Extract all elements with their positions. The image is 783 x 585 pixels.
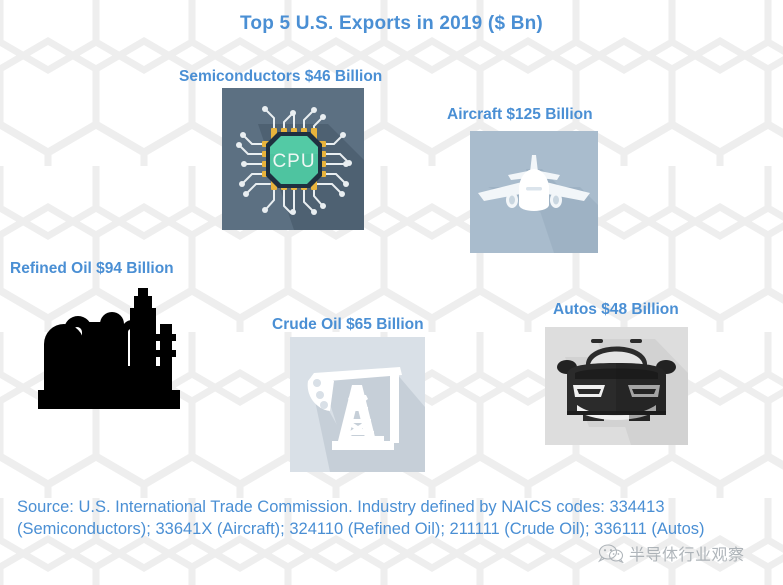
label-aircraft: Aircraft $125 Billion: [447, 106, 593, 124]
source-footnote: Source: U.S. International Trade Commiss…: [17, 496, 762, 540]
wechat-logo-icon: [598, 543, 624, 563]
label-semiconductors: Semiconductors $46 Billion: [179, 68, 382, 86]
cpu-chip-icon: CPU: [222, 88, 364, 230]
airplane-icon: [470, 131, 598, 253]
refinery-icon: [38, 282, 180, 409]
label-autos: Autos $48 Billion: [553, 301, 679, 319]
watermark-text: 半导体行业观察: [629, 541, 745, 565]
watermark: 半导体行业观察: [598, 541, 745, 565]
tile-semiconductors: CPU: [222, 88, 364, 230]
tile-aircraft: [470, 131, 598, 253]
page-title: Top 5 U.S. Exports in 2019 ($ Bn): [0, 13, 783, 35]
tile-crude-oil: [290, 337, 425, 472]
cpu-chip-text: CPU: [272, 151, 315, 172]
label-crude-oil: Crude Oil $65 Billion: [272, 316, 424, 334]
tile-refined-oil: [38, 282, 180, 409]
tile-autos: [545, 327, 688, 445]
oil-pumpjack-icon: [290, 337, 425, 472]
label-refined-oil: Refined Oil $94 Billion: [10, 260, 174, 278]
infographic-page: Top 5 U.S. Exports in 2019 ($ Bn) Semico…: [0, 0, 783, 585]
car-front-icon: [545, 327, 688, 445]
